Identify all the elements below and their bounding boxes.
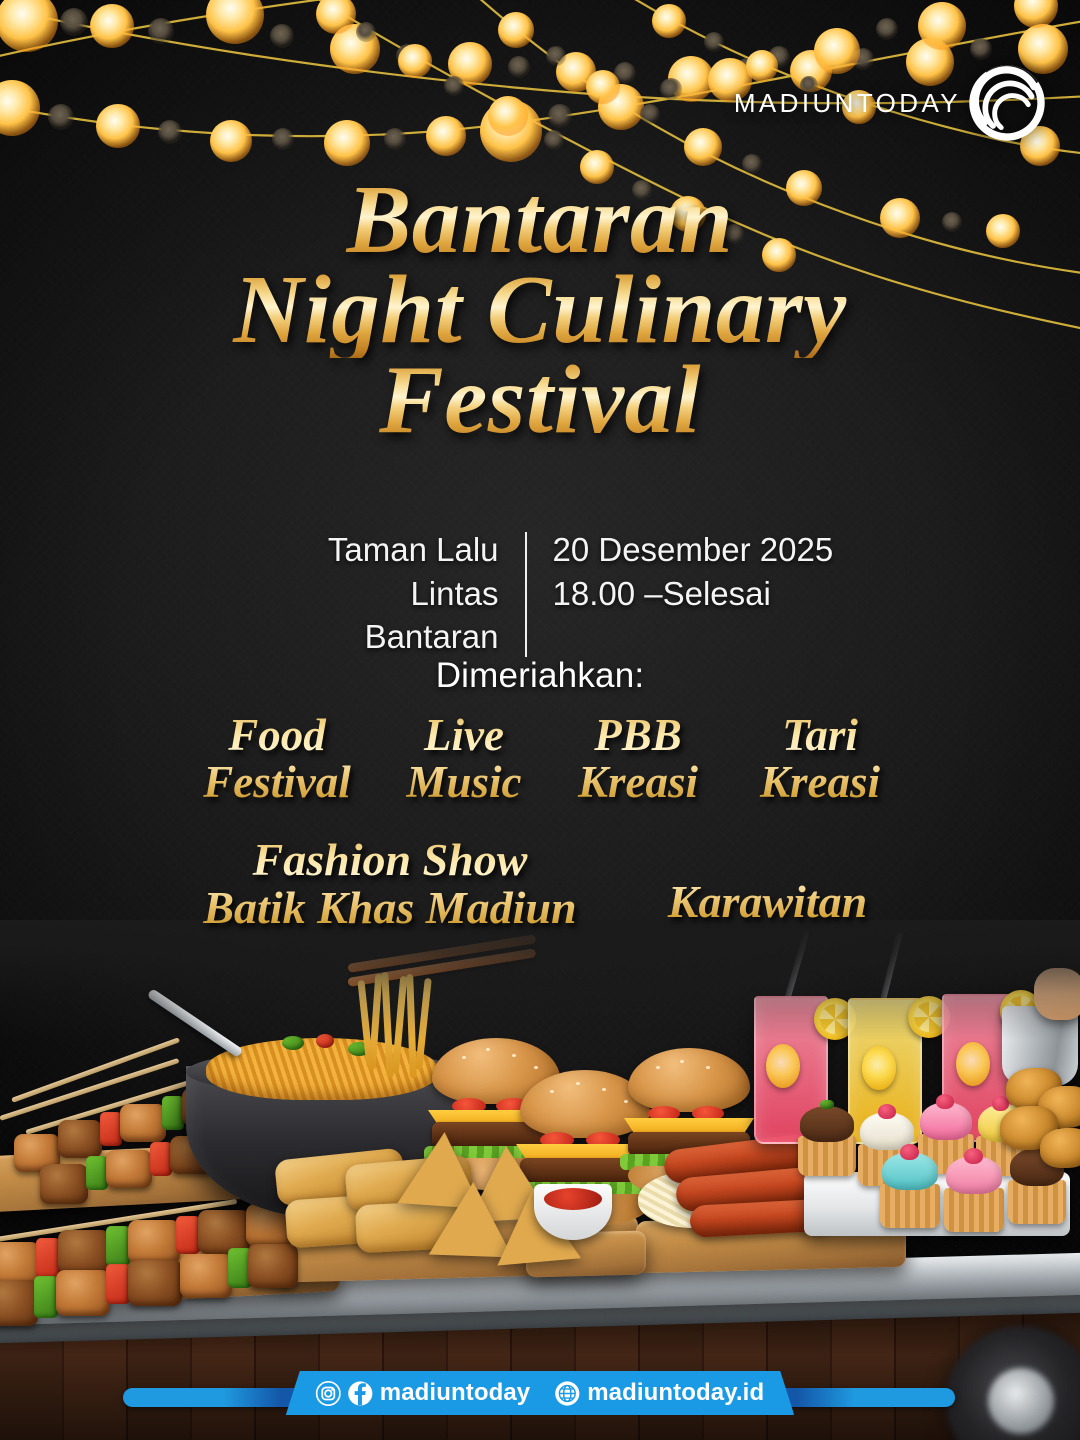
lineup-row-primary: Food Festival Live Music PBB Kreasi Tari… [0, 712, 1080, 806]
social-group-handles[interactable]: madiuntoday [316, 1379, 530, 1407]
lineup-row-secondary: Fashion Show Batik Khas Madiun Karawitan [0, 836, 1080, 932]
globe-icon[interactable] [555, 1381, 580, 1406]
social-footer-bar[interactable]: madiuntoday madiuntoday.id [286, 1371, 794, 1415]
title-line-2: Night Culinary [0, 262, 1080, 358]
instagram-icon[interactable] [316, 1381, 341, 1406]
lineup-item-tari-kreasi: Tari Kreasi [731, 712, 909, 806]
cupcake-frosting-chocolate [800, 1106, 854, 1142]
brand-logo[interactable]: MADIUNTODAY [734, 62, 1048, 144]
date-time-text: 20 Desember 2025 18.00 –Selesai [527, 528, 837, 659]
lineup-item-karawitan: Karawitan [618, 836, 918, 926]
poster-title: Bantaran Night Culinary Festival [0, 172, 1080, 448]
crescent-swoosh-mark [966, 62, 1048, 144]
photo-top-fade [0, 920, 1080, 1040]
lineup-item-live-music: Live Music [383, 712, 545, 806]
title-line-1: Bantaran [0, 172, 1080, 268]
lineup-heading: Dimeriahkan: [0, 656, 1080, 696]
lineup-item-fashion-show: Fashion Show Batik Khas Madiun [163, 836, 618, 932]
poster-canvas: MADIUNTODAY Bantaran Night Culinary Fest… [0, 0, 1080, 1440]
food-photo-region [0, 920, 1080, 1440]
facebook-icon[interactable] [348, 1381, 373, 1406]
logo-wordmark: MADIUNTODAY [734, 88, 961, 119]
lineup-item-food-festival: Food Festival [171, 712, 383, 806]
social-handle-website[interactable]: madiuntoday.id [587, 1379, 764, 1407]
title-line-3: Festival [0, 352, 1080, 448]
social-group-website[interactable]: madiuntoday.id [555, 1379, 764, 1407]
lineup-item-pbb-kreasi: PBB Kreasi [545, 712, 731, 806]
venue-text: Taman Lalu Lintas Bantaran [244, 528, 525, 659]
event-details: Taman Lalu Lintas Bantaran 20 Desember 2… [0, 528, 1080, 659]
social-handle-instagram[interactable]: madiuntoday [380, 1379, 530, 1407]
